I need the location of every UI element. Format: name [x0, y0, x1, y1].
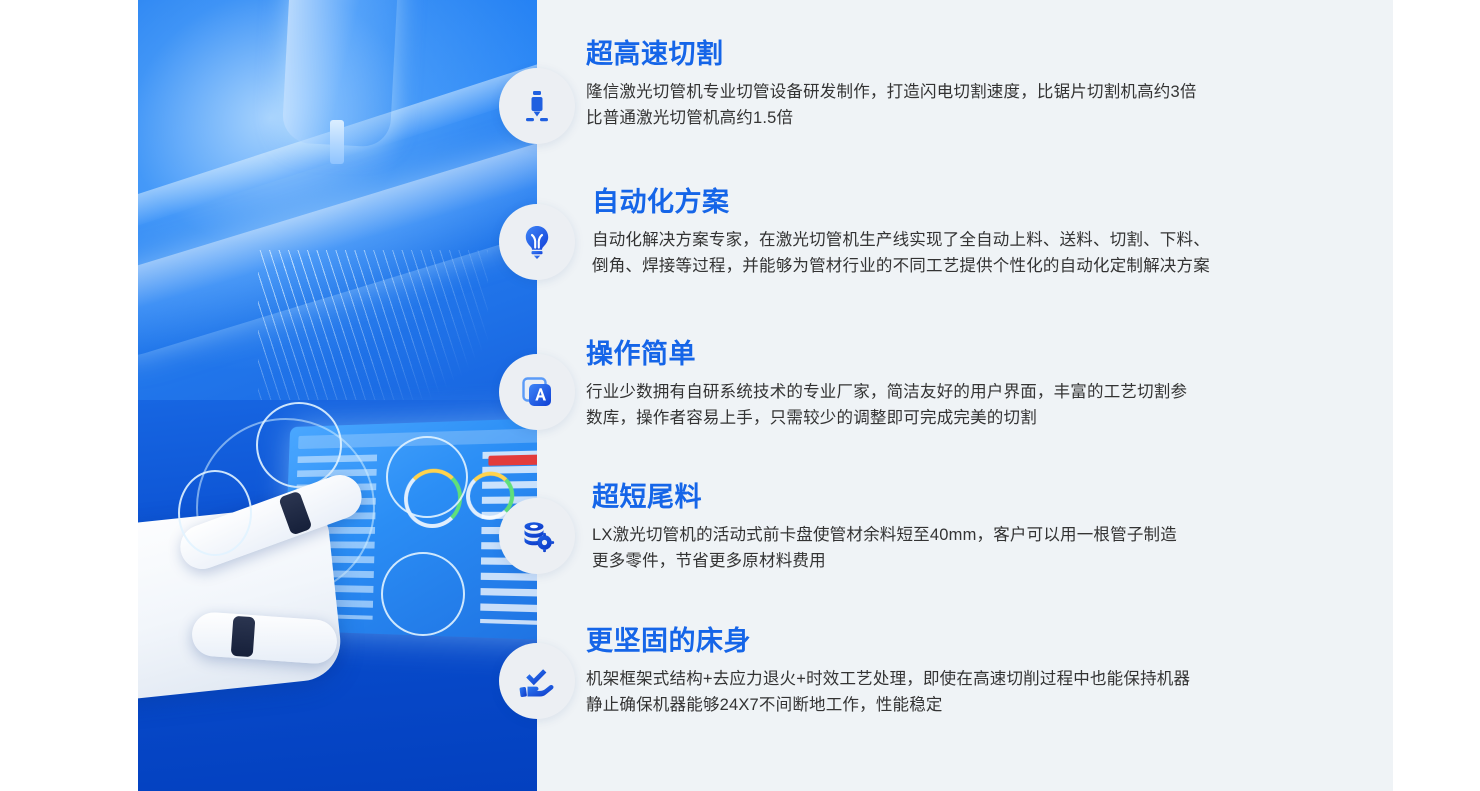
feature-description: 隆信激光切管机专业切管设备研发制作，打造闪电切割速度，比锯片切割机高约3倍 比普…: [586, 79, 1302, 132]
feature-description-line: 自动化解决方案专家，在激光切管机生产线实现了全自动上料、送料、切割、下料、: [592, 227, 1308, 254]
hud-ring-gears: [256, 402, 342, 488]
left-white-gutter: [0, 0, 138, 791]
feature-description: 行业少数拥有自研系统技术的专业厂家，简洁友好的用户界面，丰富的工艺切割参 数库，…: [586, 379, 1302, 432]
feature-title: 更坚固的床身: [586, 627, 1302, 657]
robot-thumb-joint: [231, 616, 256, 657]
feature-list-page: 超高速切割 隆信激光切管机专业切管设备研发制作，打造闪电切割速度，比锯片切割机高…: [0, 0, 1480, 791]
feature-title: 自动化方案: [592, 188, 1308, 218]
feature-title: 操作简单: [586, 340, 1302, 370]
feature-description-line: 倒角、焊接等过程，并能够为管材行业的不同工艺提供个性化的自动化定制解决方案: [592, 253, 1308, 280]
feature-title: 超高速切割: [586, 40, 1302, 70]
feature-description-line: 更多零件，节省更多原材料费用: [592, 548, 1308, 575]
feature-description: LX激光切管机的活动式前卡盘使管材余料短至40mm，客户可以用一根管子制造 更多…: [592, 522, 1308, 575]
hud-ring-laptop: [381, 552, 465, 636]
feature-description-line: 隆信激光切管机专业切管设备研发制作，打造闪电切割速度，比锯片切割机高约3倍: [586, 79, 1302, 106]
feature-text-block: 超短尾料 LX激光切管机的活动式前卡盘使管材余料短至40mm，客户可以用一根管子…: [592, 483, 1308, 575]
layered-card-a-icon: [499, 354, 575, 430]
feature-description: 自动化解决方案专家，在激光切管机生产线实现了全自动上料、送料、切割、下料、 倒角…: [592, 227, 1308, 280]
hero-image: [138, 0, 537, 791]
feature-text-block: 超高速切割 隆信激光切管机专业切管设备研发制作，打造闪电切割速度，比锯片切割机高…: [586, 40, 1302, 132]
feature-text-block: 操作简单 行业少数拥有自研系统技术的专业厂家，简洁友好的用户界面，丰富的工艺切割…: [586, 340, 1302, 432]
laser-sparks: [258, 250, 488, 420]
feature-description: 机架框架式结构+去应力退火+时效工艺处理，即使在高速切削过程中也能保持机器 静止…: [586, 666, 1302, 719]
feature-description-line: 机架框架式结构+去应力退火+时效工艺处理，即使在高速切削过程中也能保持机器: [586, 666, 1302, 693]
feature-description-line: 数库，操作者容易上手，只需较少的调整即可完成完美的切割: [586, 405, 1302, 432]
feature-description-line: 比普通激光切管机高约1.5倍: [586, 105, 1302, 132]
hud-ring-cloud: [178, 470, 252, 556]
hud-ring-top-right: [386, 436, 468, 518]
right-white-gutter: [1393, 0, 1480, 791]
feature-description-line: LX激光切管机的活动式前卡盘使管材余料短至40mm，客户可以用一根管子制造: [592, 522, 1308, 549]
lightbulb-icon: [499, 204, 575, 280]
feature-text-block: 更坚固的床身 机架框架式结构+去应力退火+时效工艺处理，即使在高速切削过程中也能…: [586, 627, 1302, 719]
laser-cutting-head-icon: [499, 68, 575, 144]
database-gear-icon: [499, 498, 575, 574]
feature-title: 超短尾料: [592, 483, 1308, 513]
robot-finger-joint: [278, 491, 312, 536]
feature-text-block: 自动化方案 自动化解决方案专家，在激光切管机生产线实现了全自动上料、送料、切割、…: [592, 188, 1308, 280]
hmi-alert-bar: [488, 453, 537, 465]
laser-nozzle-shape: [330, 120, 344, 164]
feature-description-line: 静止确保机器能够24X7不间断地工作，性能稳定: [586, 692, 1302, 719]
hand-check-icon: [499, 643, 575, 719]
feature-description-line: 行业少数拥有自研系统技术的专业厂家，简洁友好的用户界面，丰富的工艺切割参: [586, 379, 1302, 406]
